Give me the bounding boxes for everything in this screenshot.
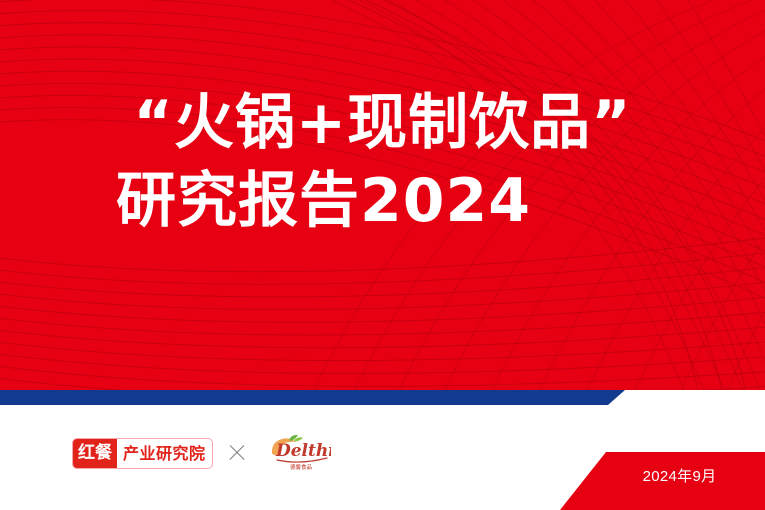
report-cover-slide: “火锅+现制饮品” 研究报告2024 红餐 产业研究院 Delthin <box>0 0 765 510</box>
delthin-subtitle: 德馨食品 <box>290 463 313 471</box>
cross-separator-icon <box>227 443 247 463</box>
logo-row: 红餐 产业研究院 Delthin 德馨食品 <box>72 432 331 474</box>
hongcan-logo-mark: 红餐 <box>73 439 117 468</box>
blue-divider-bar <box>0 390 625 405</box>
title-line-2: 研究报告2024 <box>0 162 765 240</box>
title-line-1: “火锅+现制饮品” <box>0 84 765 162</box>
cover-title: “火锅+现制饮品” 研究报告2024 <box>0 84 765 240</box>
hongcan-logo-wordmark: 产业研究院 <box>117 439 212 468</box>
date-text: 2024年9月 <box>609 465 717 498</box>
delthin-logo[interactable]: Delthin 德馨食品 <box>269 434 331 472</box>
hongcan-institute-logo[interactable]: 红餐 产业研究院 <box>72 438 213 469</box>
delthin-logo-artwork: Delthin 德馨食品 <box>269 434 331 472</box>
svg-text:Delthin: Delthin <box>275 441 331 461</box>
